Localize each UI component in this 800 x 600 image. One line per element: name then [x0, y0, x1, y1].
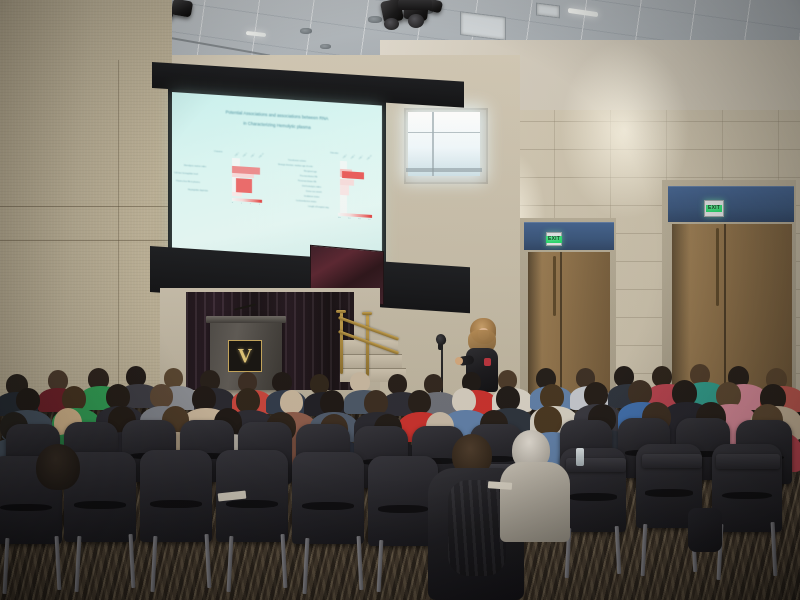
heatmap-legend-tick: 3 — [259, 204, 260, 206]
vanderbilt-v-logo: V — [228, 340, 262, 372]
heatmap-row-label: Donor sex match — [306, 191, 322, 195]
speaker-hand — [455, 357, 463, 365]
heatmap-row-label: Pre-transfusion Hb — [300, 175, 317, 179]
ceiling-speaker — [320, 44, 331, 49]
stage-step-edge — [340, 368, 406, 369]
heatmap-row-label: Post-transfusion Hb — [298, 180, 316, 184]
exit-sign: EXIT — [704, 200, 724, 217]
heatmap-col-label: Day 3 — [351, 155, 356, 160]
ceiling-speaker — [300, 28, 312, 34]
podium-top-surface — [206, 316, 286, 323]
heatmap-col-label: Day 3 — [243, 153, 248, 158]
heatmap-panel-right: Outcome Day 1 Day 3 Day 7 Day 14 Transfu… — [282, 139, 378, 223]
heatmap-col-label: Day 14 — [367, 155, 373, 161]
conference-room-photo: EXIT EXIT Potential Associations and ass… — [0, 0, 800, 600]
heatmap-cell — [236, 178, 252, 193]
chair[interactable] — [140, 450, 212, 542]
heatmap-row-label: Hemolysis marker index — [184, 165, 206, 170]
heatmap-row-label: Leukoreduction status — [296, 200, 316, 204]
podium-logo-letter: V — [238, 346, 252, 366]
heatmap-col-label: Day 14 — [259, 153, 265, 159]
wall-seam — [0, 206, 172, 207]
audience-head — [388, 374, 407, 394]
stage-light-lens — [408, 14, 424, 28]
heatmap-row-label: Storage duration, median age of units — [278, 164, 313, 169]
heatmap-cell — [342, 171, 364, 179]
door-push-bar[interactable] — [716, 228, 719, 306]
audience-jacket-highlight — [448, 480, 506, 576]
ceiling-vent — [536, 3, 560, 19]
heatmap-row-label: Length of hospital stay — [308, 206, 329, 210]
heatmap-col-label: Day 1 — [343, 154, 348, 159]
window-mullion — [408, 132, 480, 133]
stair-handrail — [362, 312, 372, 315]
heatmap-cell — [232, 192, 242, 197]
audience-head — [424, 374, 443, 394]
heatmap-heading: Outcome — [214, 151, 222, 155]
exit-sign-text: EXIT — [546, 236, 562, 243]
window-mullion — [432, 112, 434, 176]
stair-handrail — [366, 314, 369, 376]
audience-head — [350, 372, 370, 392]
window-sill — [406, 168, 482, 172]
heatmap-row-label: Unit hemolysis index — [302, 185, 321, 189]
exit-sign: EXIT — [546, 232, 562, 246]
heatmap-legend-tick: 1.5 — [368, 219, 371, 221]
heatmap-cell — [340, 185, 349, 196]
chair-seat[interactable] — [566, 458, 626, 472]
heatmap-col-label: Day 7 — [251, 153, 256, 158]
heatmap-panel-left: Outcome Day 1 Day 3 Day 7 Day 14 Hemolys… — [186, 135, 278, 213]
water-bottle[interactable] — [576, 448, 584, 466]
speaker-name-badge — [484, 358, 491, 366]
door-push-bar[interactable] — [553, 256, 556, 316]
heatmap-row-label: Haptoglobin depletion — [188, 189, 208, 193]
heatmap-legend-tick: 0.5 — [348, 217, 351, 219]
presentation-slide: Potential Associations and associations … — [172, 92, 382, 270]
heatmap-heading: Outcome — [330, 152, 338, 156]
wall-seam — [0, 240, 172, 241]
left-wall-texture — [0, 0, 172, 420]
heatmap-legend-tick: 1 — [241, 202, 242, 204]
heatmap-legend-tick: 0 — [232, 202, 233, 204]
chair-seat[interactable] — [642, 454, 702, 468]
ceiling-speaker — [368, 16, 382, 23]
door-transom-left[interactable] — [524, 222, 614, 250]
window-pane — [408, 112, 480, 176]
stair-handrail — [336, 310, 346, 313]
heatmap-row-label: Transfusion volume — [288, 160, 306, 164]
backpack[interactable] — [688, 508, 722, 552]
heatmap-color-legend — [232, 198, 262, 203]
door-transom-right[interactable] — [668, 186, 794, 222]
ceiling-projector — [398, 0, 432, 10]
heatmap-legend-tick: 0.0 — [338, 217, 341, 219]
heatmap-color-legend — [338, 213, 372, 218]
exit-sign-text: EXIT — [706, 205, 722, 212]
heatmap-row-label: Irradiation status — [304, 196, 319, 200]
chair-seat[interactable] — [716, 454, 780, 469]
heatmap-col-label: Day 7 — [359, 155, 364, 160]
chair[interactable] — [292, 452, 364, 544]
heatmap-row-label: Plasma free Hb in plasma — [176, 180, 200, 185]
stage-step — [340, 354, 402, 368]
stage-step-edge — [340, 354, 402, 355]
heatmap-legend-tick: 2 — [250, 203, 251, 205]
heatmap-col-label: Day 1 — [235, 152, 240, 157]
audience-head — [150, 384, 173, 408]
audience-head — [408, 390, 431, 414]
stair-handrail — [340, 312, 343, 374]
audience-head — [272, 372, 292, 392]
audience-head — [16, 388, 40, 412]
heatmap-row-label: Cell-free hemoglobin level — [174, 172, 198, 177]
stage-light-lens — [384, 18, 399, 30]
heatmap-row-label: Recipient age — [304, 171, 317, 175]
audience-body-foreground — [500, 462, 570, 542]
audience-head — [280, 390, 303, 414]
heatmap-legend-tick: 1.0 — [358, 218, 361, 220]
wall-seam-vertical — [118, 60, 119, 390]
audience-head-foreground — [36, 444, 80, 490]
